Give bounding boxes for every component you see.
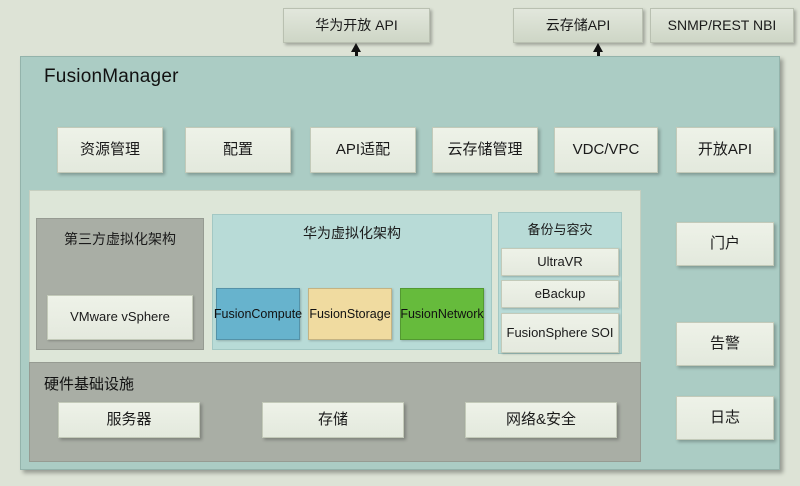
right-column-item-log[interactable]: 日志	[676, 396, 774, 440]
huawei-virt-item-fusionnetwork[interactable]: FusionNetwork	[400, 288, 484, 340]
northbound-api-cloud-storage[interactable]: 云存储API	[513, 8, 643, 43]
fm-module-open-api[interactable]: 开放API	[676, 127, 774, 173]
backup-dr-item-ebackup[interactable]: eBackup	[501, 280, 619, 308]
backup-dr-item-fusionsphere-soi[interactable]: FusionSphere SOI	[501, 313, 619, 353]
right-column-item-portal[interactable]: 门户	[676, 222, 774, 266]
hardware-item-server[interactable]: 服务器	[58, 402, 200, 438]
northbound-api-huawei-open[interactable]: 华为开放 API	[283, 8, 430, 43]
huawei-virt-item-fusionstorage[interactable]: FusionStorage	[308, 288, 392, 340]
third-party-item-vmware-vsphere[interactable]: VMware vSphere	[47, 295, 193, 340]
right-column-item-alarm[interactable]: 告警	[676, 322, 774, 366]
backup-dr-title: 备份与容灾	[499, 219, 621, 238]
hardware-item-storage[interactable]: 存储	[262, 402, 404, 438]
huawei-virt-item-fusioncompute[interactable]: FusionCompute	[216, 288, 300, 340]
fm-module-vdc-vpc[interactable]: VDC/VPC	[554, 127, 658, 173]
fusionmanager-title: FusionManager	[44, 66, 179, 88]
northbound-api-snmp-rest-nbi[interactable]: SNMP/REST NBI	[650, 8, 794, 43]
backup-dr-item-ultravr[interactable]: UltraVR	[501, 248, 619, 276]
fm-module-resource-management[interactable]: 资源管理	[57, 127, 163, 173]
third-party-virtualization-title: 第三方虚拟化架构	[37, 229, 203, 249]
fm-module-configuration[interactable]: 配置	[185, 127, 291, 173]
fm-module-cloud-storage-management[interactable]: 云存储管理	[432, 127, 538, 173]
hardware-item-network-security[interactable]: 网络&安全	[465, 402, 617, 438]
fm-module-api-adaptation[interactable]: API适配	[310, 127, 416, 173]
hardware-infrastructure-title: 硬件基础设施	[44, 373, 134, 394]
huawei-virtualization-title: 华为虚拟化架构	[213, 223, 491, 243]
